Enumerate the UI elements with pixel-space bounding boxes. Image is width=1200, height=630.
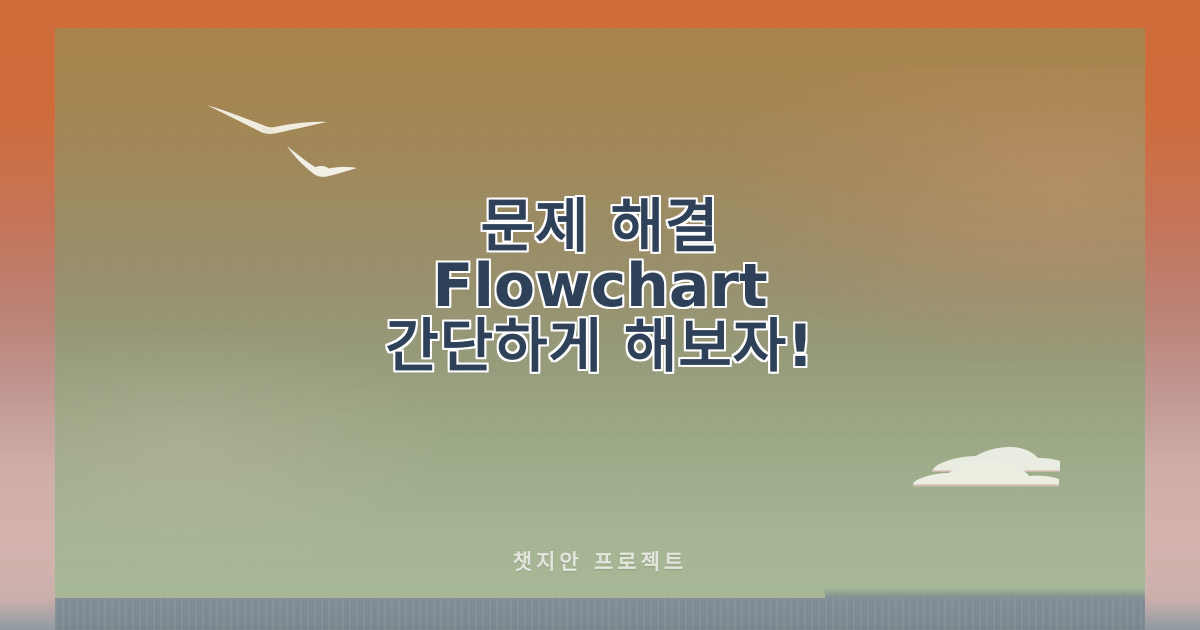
water-texture [55,598,1145,630]
thumbnail-canvas: 문제 해결 Flowchart 간단하게 해보자! 챗지안 프로젝트 [0,0,1200,630]
seagull-upper-icon [205,95,329,139]
seagull-lower-icon [283,140,359,188]
haze-glow [55,328,435,568]
cloud-right-icon [928,441,1064,473]
grain-overlay [55,28,1145,630]
cloud-left-icon [911,455,1061,487]
sunset-glow [725,68,1145,368]
sky-photo [55,28,1145,630]
sea-water [55,598,1145,630]
